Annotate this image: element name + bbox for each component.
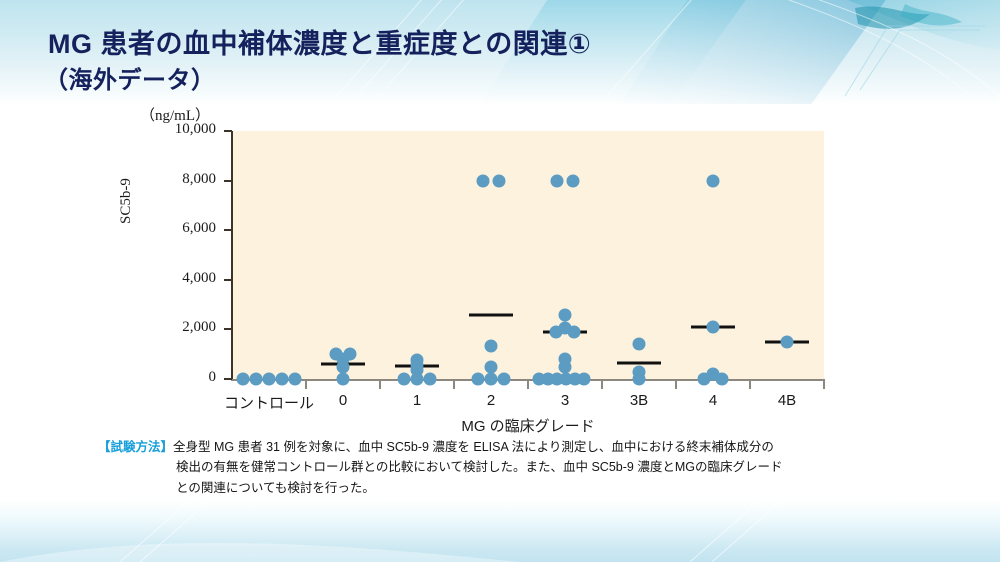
page-subtitle: （海外データ） [44,60,216,95]
page-title: MG 患者の血中補体濃度と重症度との関連① [48,22,591,61]
x-axis-tick [823,380,825,389]
x-axis-tick [675,380,677,389]
study-method-footnote: 【試験方法】全身型 MG 患者 31 例を対象に、血中 SC5b-9 濃度を E… [98,437,908,498]
x-axis-tick [453,380,455,389]
x-axis-tick-label: 4 [709,392,717,409]
y-axis-tick [224,328,232,330]
y-axis-tick-label: 8,000 [130,172,216,187]
data-point [578,373,591,386]
data-point [567,174,580,187]
data-point [411,353,424,366]
y-axis-tick-label: 10,000 [130,122,216,137]
data-point [707,174,720,187]
data-point [250,373,263,386]
data-point [424,373,437,386]
footer-decoration-band [0,500,1000,562]
data-point [237,373,250,386]
footnote-line-3: との関連についても検討を行った。 [98,478,908,498]
x-axis-tick-label: コントロール [224,392,314,413]
x-axis-tick-label: 2 [487,392,495,409]
data-point [485,339,498,352]
data-point [559,322,572,335]
y-axis-line [231,131,233,380]
y-axis-tick-label: 6,000 [130,221,216,236]
plot-background [232,131,824,379]
data-point [633,338,646,351]
x-axis-tick [305,380,307,389]
data-point [276,373,289,386]
data-point [485,360,498,373]
y-axis-tick [224,180,232,182]
footer-abstract-graphic [0,500,1000,562]
y-axis-tick-label: 4,000 [130,271,216,286]
y-axis-tick [224,130,232,132]
x-axis-tick-label: 3 [561,392,569,409]
data-point [707,368,720,381]
y-axis-tick-label: 0 [130,370,216,385]
x-axis-tick [749,380,751,389]
x-axis-tick [527,380,529,389]
x-axis-tick-label: 0 [339,392,347,409]
data-point [477,174,490,187]
data-point [330,348,343,361]
data-point [344,348,357,361]
footnote-line-1: 【試験方法】全身型 MG 患者 31 例を対象に、血中 SC5b-9 濃度を E… [98,437,908,457]
footnote-line-2: 検出の有無を健常コントロール群との比較において検討した。また、血中 SC5b-9… [98,457,908,477]
x-axis-tick-label: 1 [413,392,421,409]
y-axis-tick [224,229,232,231]
data-point [493,174,506,187]
data-point [398,373,411,386]
footnote-tag: 【試験方法】 [98,440,173,454]
data-point [633,365,646,378]
mean-bar [469,313,513,316]
x-axis-tick-label: 3B [630,392,648,409]
data-point [559,308,572,321]
data-point [781,335,794,348]
x-axis-tick-label: 4B [778,392,796,409]
mean-bar [617,361,661,364]
x-axis-tick [379,380,381,389]
data-point [498,373,511,386]
y-axis-tick [224,378,232,380]
data-point [559,353,572,366]
data-point [289,373,302,386]
scatter-chart: （ng/mL） SC5b-9 02,0004,0006,0008,00010,0… [0,104,1000,424]
data-point [485,373,498,386]
data-point [551,174,564,187]
x-axis-tick [601,380,603,389]
data-point [472,373,485,386]
y-axis-tick-label: 2,000 [130,320,216,335]
data-point [337,373,350,386]
y-axis-tick [224,279,232,281]
x-axis-title: MG の臨床グレード [232,415,824,436]
data-point [263,373,276,386]
data-point [707,320,720,333]
footnote-text-1: 全身型 MG 患者 31 例を対象に、血中 SC5b-9 濃度を ELISA 法… [173,440,774,454]
